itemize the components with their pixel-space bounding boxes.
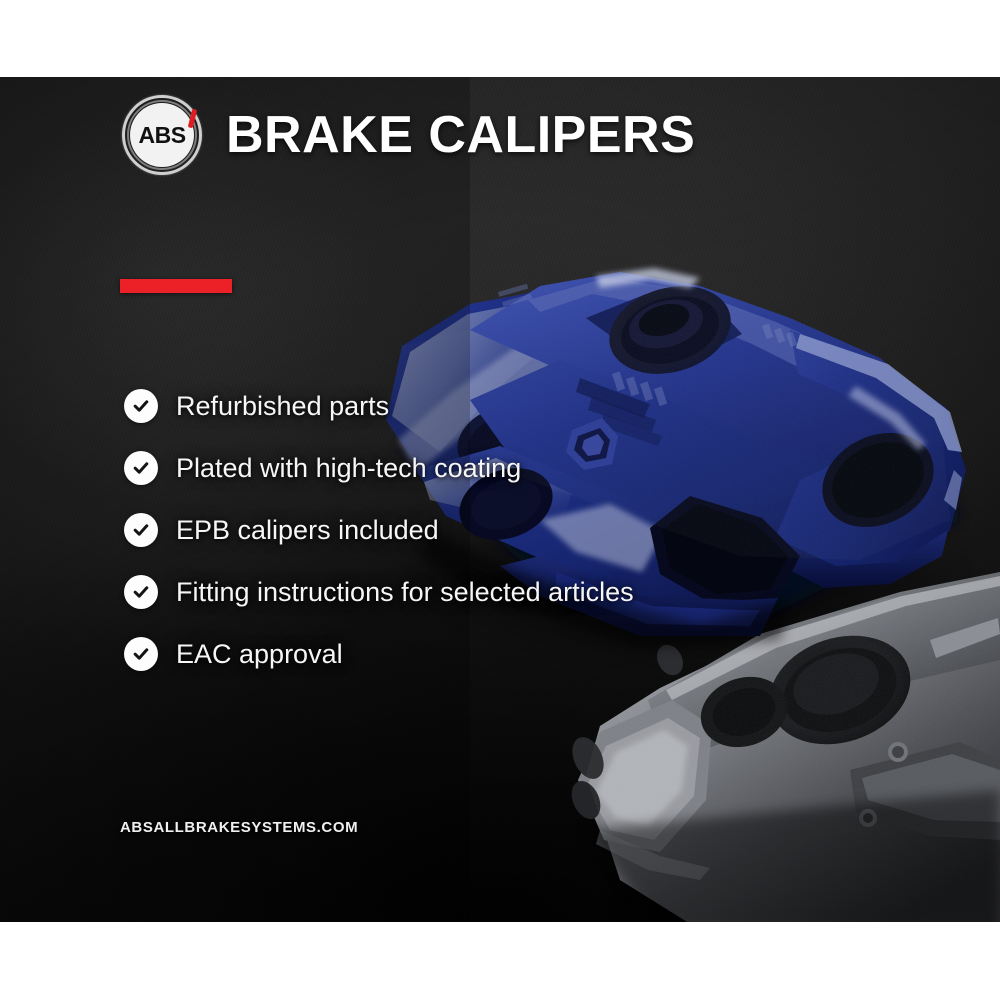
logo-wordmark: ABS bbox=[138, 124, 185, 147]
check-circle-icon bbox=[124, 451, 158, 485]
feature-label: Plated with high-tech coating bbox=[176, 455, 521, 482]
check-circle-icon bbox=[124, 637, 158, 671]
feature-label: EAC approval bbox=[176, 641, 343, 668]
red-rule-divider bbox=[120, 279, 232, 293]
abs-logo-icon: ABS bbox=[120, 93, 204, 177]
product-banner: ABS BRAKE CALIPERS Refurbished parts bbox=[0, 0, 1000, 1000]
feature-label: Fitting instructions for selected articl… bbox=[176, 579, 634, 606]
website-url: ABSALLBRAKESYSTEMS.COM bbox=[120, 819, 358, 836]
check-circle-icon bbox=[124, 513, 158, 547]
banner-header: ABS BRAKE CALIPERS bbox=[120, 93, 695, 177]
check-circle-icon bbox=[124, 389, 158, 423]
feature-list: Refurbished parts Plated with high-tech … bbox=[124, 389, 634, 671]
list-item: EAC approval bbox=[124, 637, 634, 671]
feature-label: EPB calipers included bbox=[176, 517, 439, 544]
logo-disc: ABS bbox=[130, 103, 194, 167]
feature-label: Refurbished parts bbox=[176, 393, 389, 420]
page-title: BRAKE CALIPERS bbox=[226, 109, 695, 161]
list-item: Fitting instructions for selected articl… bbox=[124, 575, 634, 609]
list-item: EPB calipers included bbox=[124, 513, 634, 547]
check-circle-icon bbox=[124, 575, 158, 609]
list-item: Refurbished parts bbox=[124, 389, 634, 423]
list-item: Plated with high-tech coating bbox=[124, 451, 634, 485]
